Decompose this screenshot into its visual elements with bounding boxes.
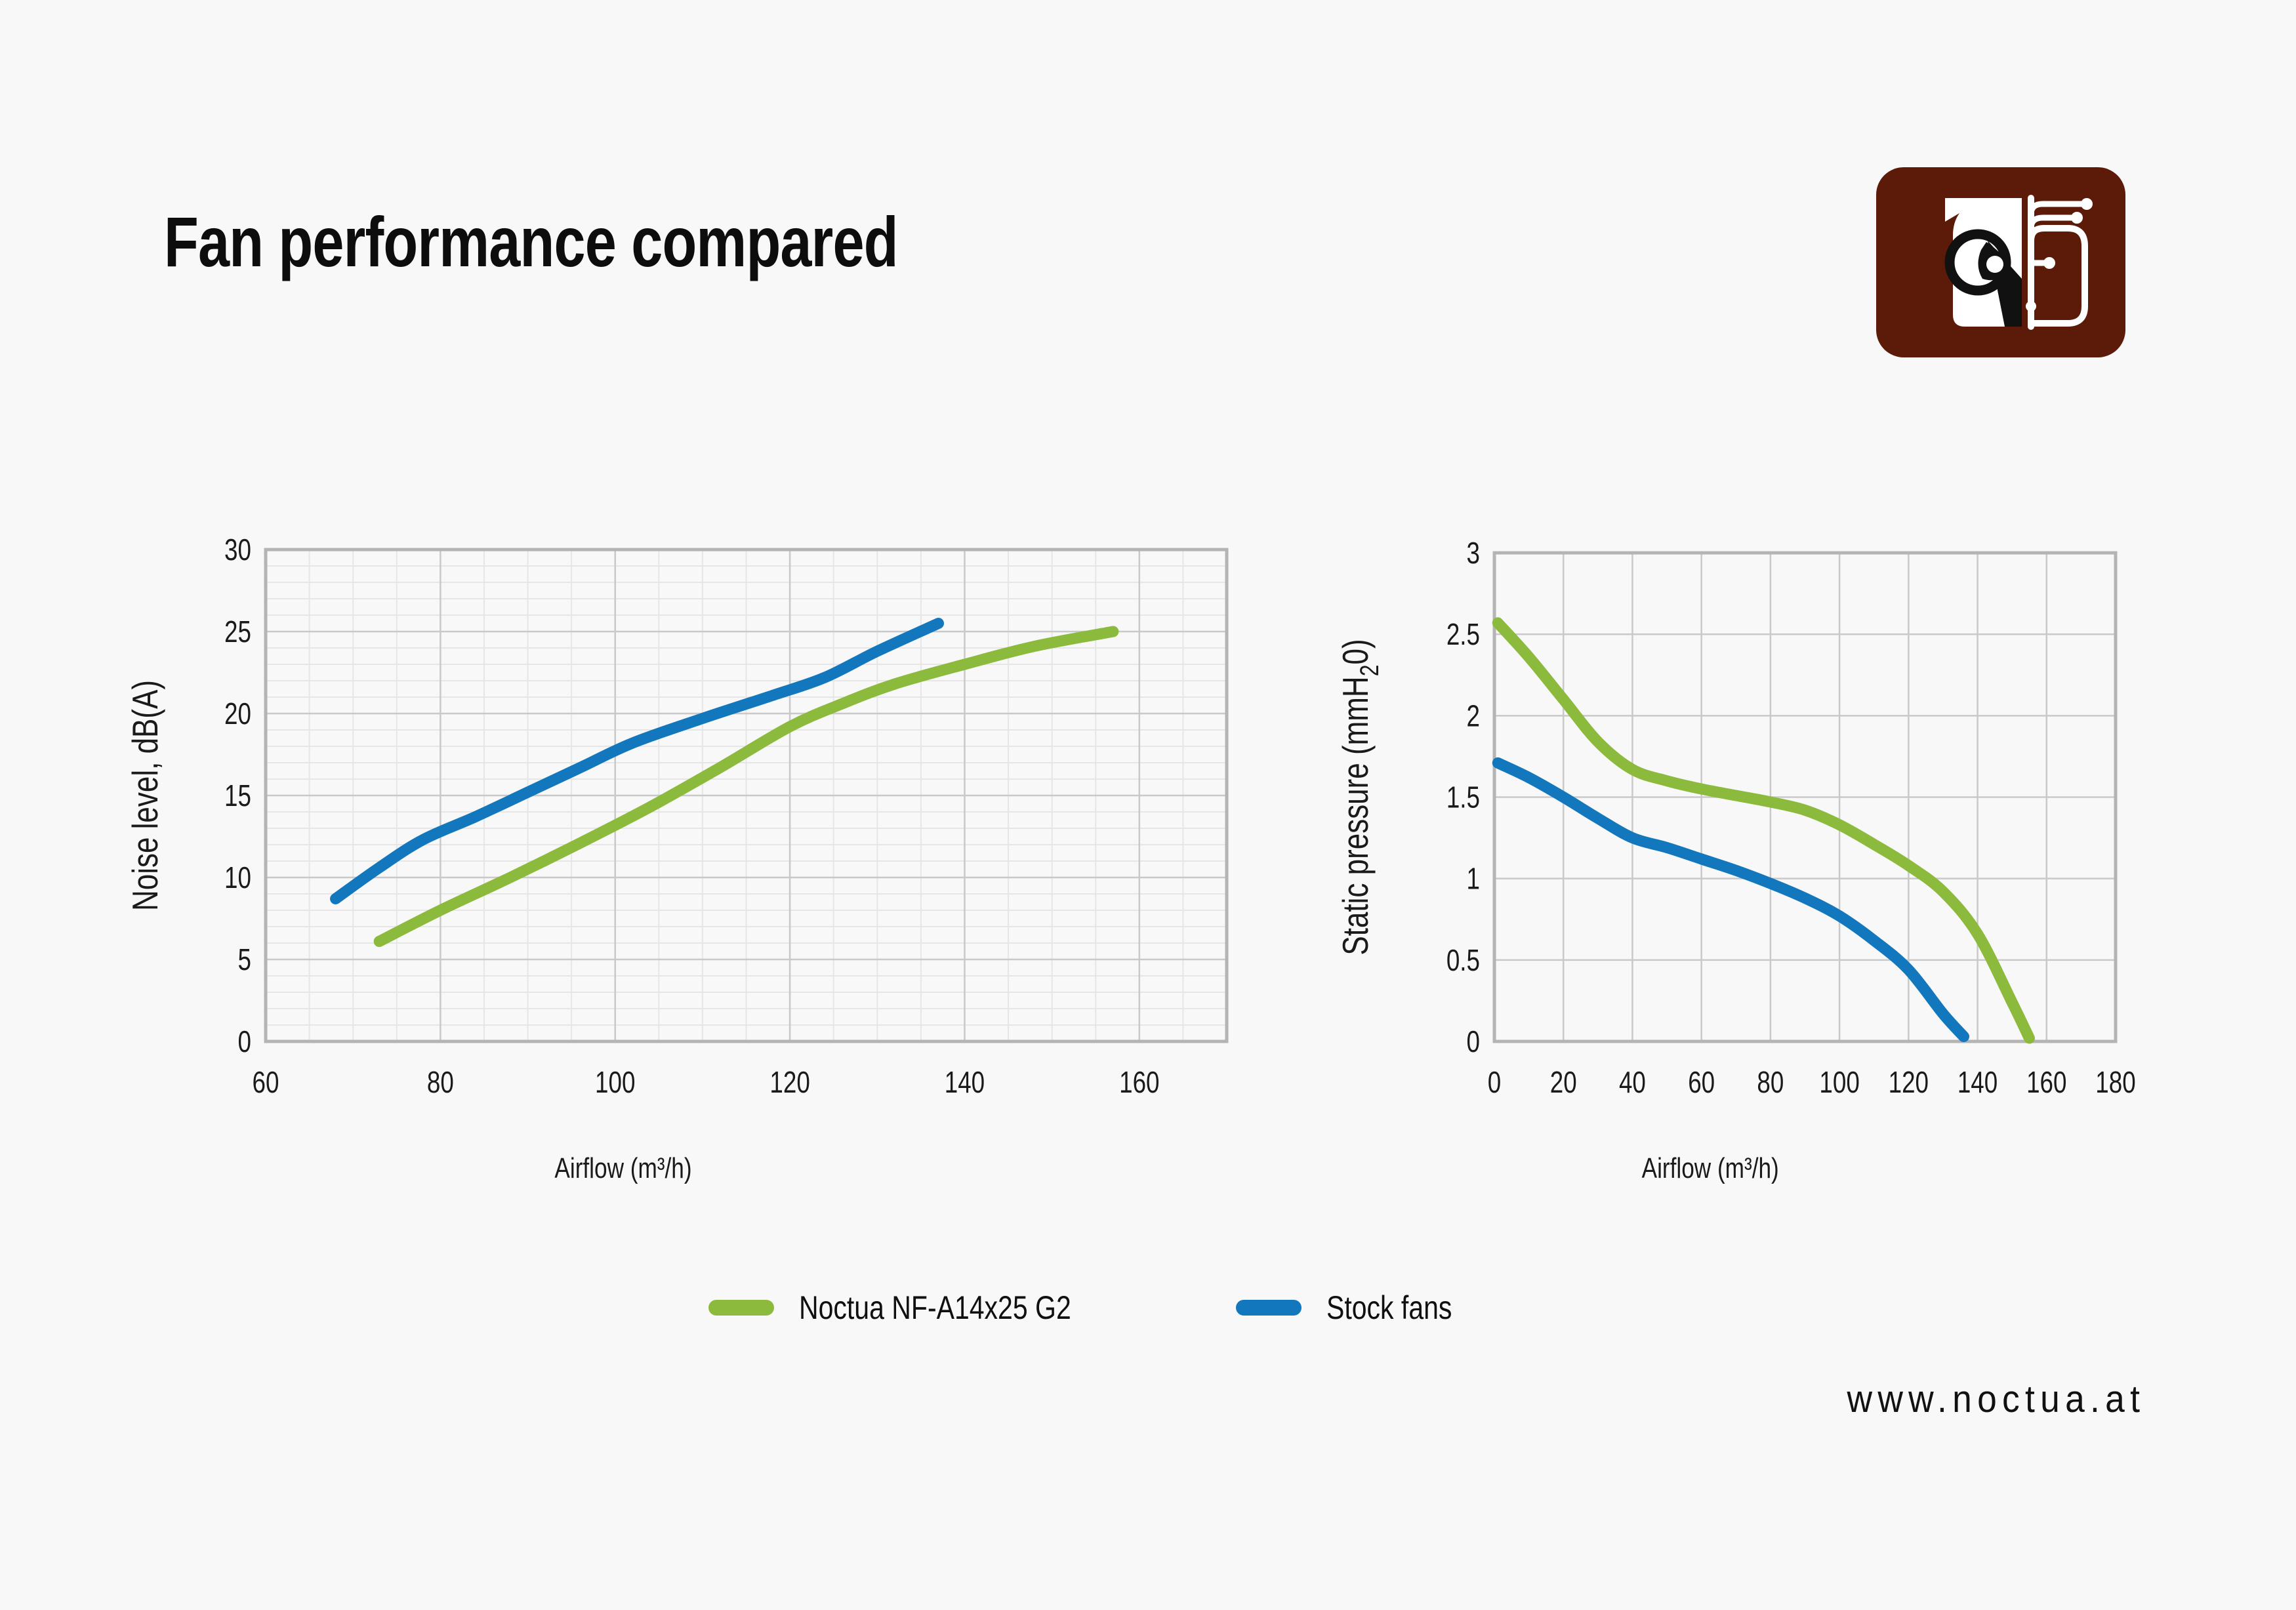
- legend-label-noctua: Noctua NF-A14x25 G2: [799, 1289, 1071, 1327]
- y-axis-title: Noise level, dB(A): [131, 680, 165, 911]
- x-tick-label: 60: [1688, 1065, 1715, 1099]
- svg-text:Noise level, dB(A): Noise level, dB(A): [131, 680, 165, 911]
- legend-swatch-blue: [1236, 1300, 1302, 1316]
- gridlines: [1494, 553, 2116, 1041]
- pressure-chart-svg: 02040608010012014016018000.511.522.53Air…: [1332, 518, 2139, 1213]
- y-tick-label: 3: [1467, 536, 1480, 570]
- noise-chart-svg: 6080100120140160051015202530Airflow (m³/…: [131, 518, 1260, 1213]
- gridlines: [266, 550, 1227, 1041]
- y-tick-label: 0.5: [1446, 943, 1480, 977]
- y-tick-label: 15: [224, 778, 251, 813]
- series-line-stock: [1498, 763, 1963, 1036]
- infographic-page: Fan performance compared 608010012014016…: [0, 0, 2296, 1610]
- page-title: Fan performance compared: [164, 207, 898, 277]
- noctua-owl-logo: [1876, 167, 2125, 357]
- x-tick-label: 60: [253, 1065, 279, 1099]
- y-axis-title: Static pressure (mmH20): [1335, 639, 1384, 955]
- noctua-owl-icon: [1876, 167, 2125, 357]
- x-tick-label: 40: [1619, 1065, 1646, 1099]
- x-tick-label: 140: [945, 1065, 985, 1099]
- y-tick-label: 25: [224, 614, 251, 649]
- x-axis-title: Airflow (m³/h): [554, 1152, 691, 1184]
- y-tick-label: 0: [238, 1024, 251, 1058]
- x-tick-label: 180: [2095, 1065, 2135, 1099]
- legend-item-stock[interactable]: Stock fans: [1236, 1289, 1479, 1327]
- y-tick-label: 0: [1467, 1024, 1480, 1058]
- y-tick-label: 1.5: [1446, 780, 1480, 815]
- x-axis-title: Airflow (m³/h): [1642, 1152, 1779, 1184]
- x-tick-label: 120: [769, 1065, 810, 1099]
- svg-text:Static pressure (mmH20): Static pressure (mmH20): [1335, 639, 1384, 955]
- y-tick-label: 10: [224, 860, 251, 895]
- x-tick-label: 100: [1819, 1065, 1859, 1099]
- y-tick-label: 2.5: [1446, 617, 1480, 651]
- x-tick-label: 80: [427, 1065, 454, 1099]
- y-tick-label: 2: [1467, 698, 1480, 733]
- x-tick-label: 160: [2026, 1065, 2066, 1099]
- y-tick-label: 5: [238, 942, 251, 976]
- x-tick-label: 120: [1889, 1065, 1929, 1099]
- x-tick-label: 80: [1757, 1065, 1784, 1099]
- y-tick-label: 1: [1467, 862, 1480, 896]
- x-tick-label: 140: [1958, 1065, 1998, 1099]
- x-tick-label: 20: [1550, 1065, 1577, 1099]
- chart-legend: Noctua NF-A14x25 G2 Stock fans: [708, 1289, 1479, 1327]
- y-tick-label: 20: [224, 696, 251, 731]
- y-tick-label: 30: [224, 533, 251, 567]
- series-line-noctua: [1498, 623, 2029, 1038]
- x-tick-label: 160: [1119, 1065, 1159, 1099]
- x-tick-label: 100: [595, 1065, 635, 1099]
- site-url: www.noctua.at: [1847, 1377, 2145, 1421]
- legend-label-stock: Stock fans: [1326, 1289, 1452, 1327]
- legend-item-noctua[interactable]: Noctua NF-A14x25 G2: [708, 1289, 1131, 1327]
- x-tick-label: 0: [1488, 1065, 1501, 1099]
- legend-swatch-green: [708, 1300, 774, 1316]
- static-pressure-chart: 02040608010012014016018000.511.522.53Air…: [1332, 518, 2139, 1213]
- noise-level-chart: 6080100120140160051015202530Airflow (m³/…: [131, 518, 1260, 1213]
